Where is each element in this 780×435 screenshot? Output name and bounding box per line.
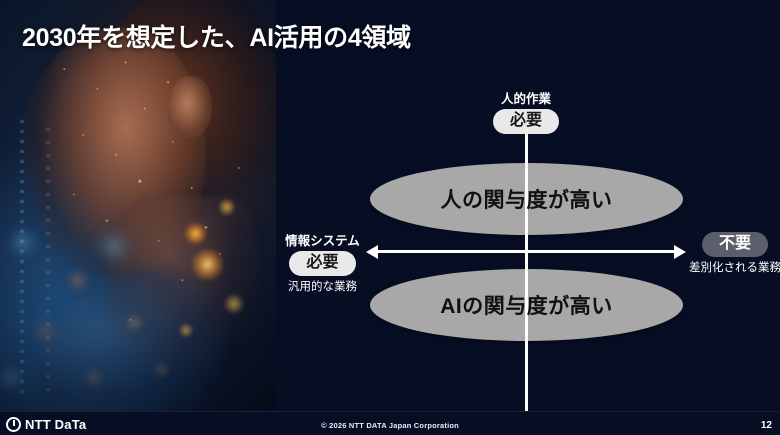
axis-cap-top: 人的作業 必要 (466, 88, 586, 134)
axis-cap-left: 情報システム 必要 汎用的な業務 (270, 230, 375, 294)
axis-right-pill: 不要 (702, 232, 768, 257)
page-title: 2030年を想定した、AI活用の4領域 (22, 18, 411, 54)
axis-top-pill: 必要 (493, 109, 559, 134)
axis-left-sub: 汎用的な業務 (270, 278, 375, 294)
horizontal-axis-line (376, 250, 676, 253)
axis-right-sub: 差別化される業務 (680, 259, 780, 275)
axis-cap-right: 不要 差別化される業務 (680, 232, 780, 275)
axis-left-title: 情報システム (270, 230, 375, 249)
slide-canvas: 2030年を想定した、AI活用の4領域 人の関与度が高い AIの関与度が高い 人… (0, 0, 780, 435)
vertical-axis-line (525, 132, 528, 435)
axis-left-pill: 必要 (289, 251, 355, 276)
copyright-text: © 2026 NTT DATA Japan Corporation (0, 421, 780, 430)
quadrant-diagram: 人の関与度が高い AIの関与度が高い 人的作業 必要 不要 情報システム 必要 … (280, 80, 780, 410)
image-vignette-layer (0, 0, 276, 412)
axis-top-title: 人的作業 (466, 88, 586, 107)
footer-bar: NTT DaTa © 2026 NTT DATA Japan Corporati… (0, 411, 780, 435)
page-number: 12 (761, 420, 772, 431)
ellipse-bottom-label: AIの関与度が高い (440, 290, 613, 320)
ellipse-top-label: 人の関与度が高い (441, 184, 613, 214)
ai-portrait-image (0, 0, 276, 412)
